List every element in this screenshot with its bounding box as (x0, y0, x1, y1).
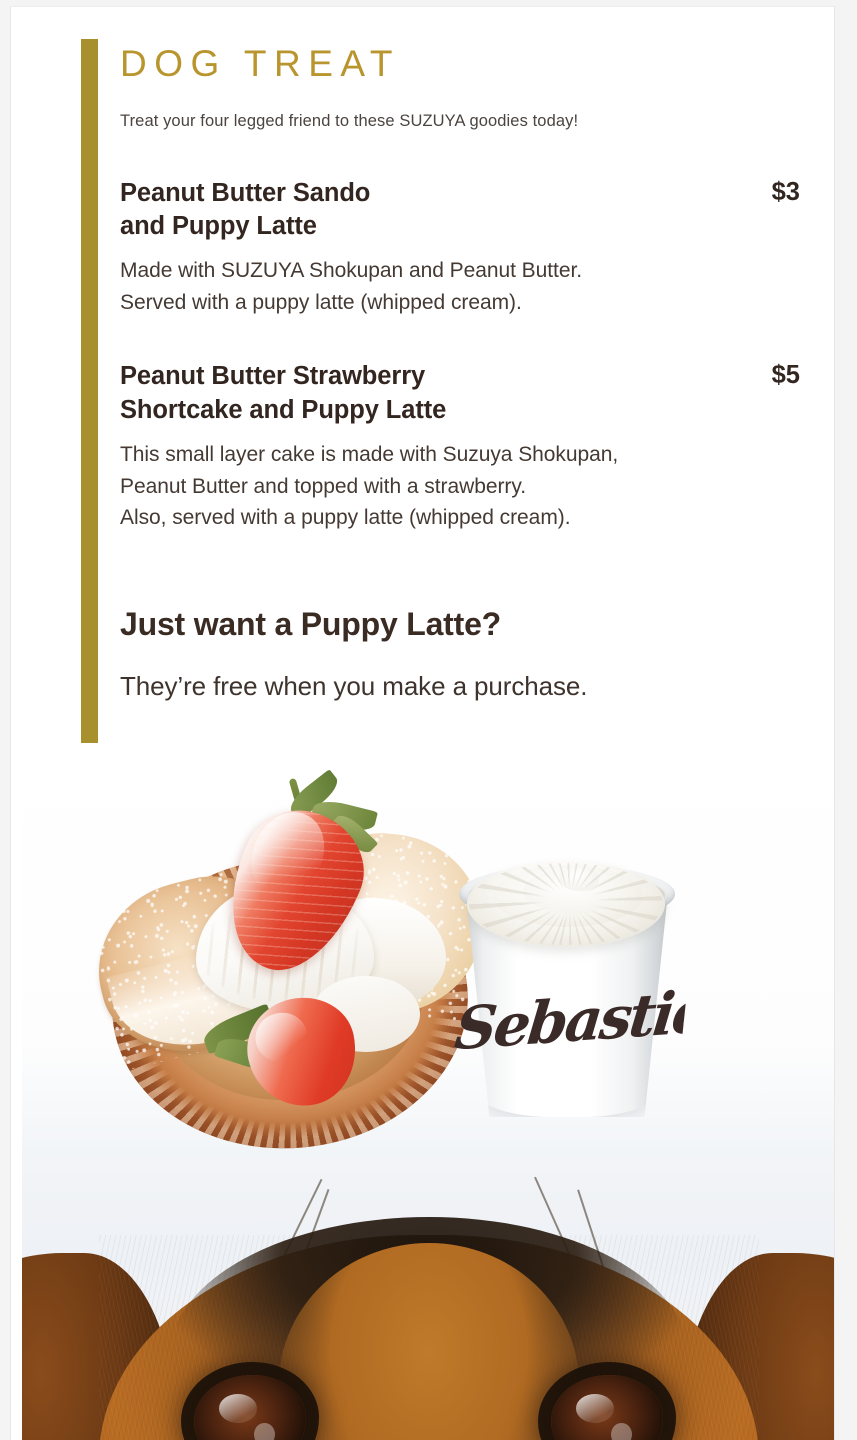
menu-item[interactable]: Peanut Butter Strawberry Shortcake and P… (120, 360, 800, 533)
menu-item-name: Peanut Butter Strawberry Shortcake and P… (120, 360, 446, 428)
menu-item-name-line2: and Puppy Latte (120, 212, 317, 240)
promo-heading: Just want a Puppy Latte? (120, 606, 800, 643)
page-subtitle: Treat your four legged friend to these S… (120, 112, 800, 131)
promo-note: They’re free when you make a purchase. (120, 671, 800, 702)
cream-ridges-shape (469, 863, 663, 945)
dachshund-dog-photo (22, 1157, 835, 1440)
page-title: DOG TREAT (120, 43, 800, 86)
page-root: DOG TREAT Treat your four legged friend … (0, 0, 857, 1440)
menu-item-price: $3 (772, 177, 800, 207)
gold-accent-bar (81, 39, 98, 743)
menu-item-name-line2: Shortcake and Puppy Latte (120, 396, 446, 424)
menu-content: DOG TREAT Treat your four legged friend … (120, 7, 800, 702)
puppy-latte-cup-photo: Sebastien (447, 835, 687, 1117)
menu-item-header: Peanut Butter Strawberry Shortcake and P… (120, 360, 800, 428)
menu-item-description: Made with SUZUYA Shokupan and Peanut But… (120, 255, 800, 318)
menu-item-header: Peanut Butter Sando and Puppy Latte $3 (120, 177, 800, 245)
strawberry-shortcake-photo (98, 780, 482, 1162)
menu-item[interactable]: Peanut Butter Sando and Puppy Latte $3 M… (120, 177, 800, 319)
menu-card: DOG TREAT Treat your four legged friend … (10, 6, 835, 1440)
menu-item-price: $5 (772, 360, 800, 390)
menu-item-description: This small layer cake is made with Suzuy… (120, 439, 800, 534)
menu-item-name-line1: Peanut Butter Strawberry (120, 362, 425, 390)
menu-item-name: Peanut Butter Sando and Puppy Latte (120, 177, 370, 245)
menu-item-name-line1: Peanut Butter Sando (120, 179, 370, 207)
